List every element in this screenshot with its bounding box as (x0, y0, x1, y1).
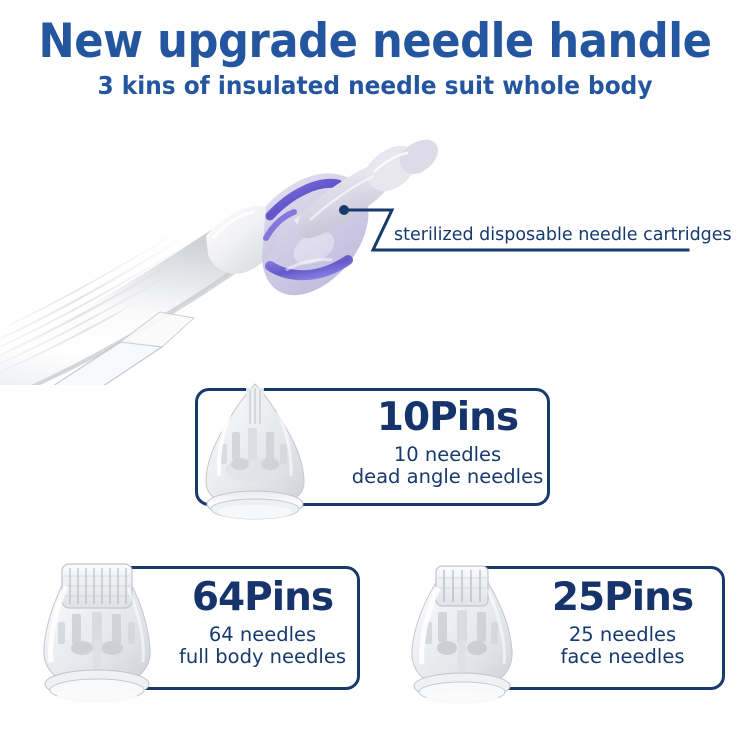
pins-title-25: 25Pins (520, 578, 725, 617)
info-text-64-pins: 64Pins 64 needles full body needles (160, 578, 365, 668)
cartridge-25-pin-image (392, 560, 532, 710)
pins-sub-64-line2: full body needles (160, 646, 365, 668)
pins-sub-10-line2: dead angle needles (340, 466, 555, 488)
pins-sub-64-line1: 64 needles (160, 624, 365, 646)
pins-title-10: 10Pins (340, 398, 555, 437)
product-banner: New upgrade needle handle 3 kins of insu… (0, 0, 750, 750)
callout-label: sterilized disposable needle cartridges (394, 225, 732, 245)
cartridge-10-pin-image (180, 378, 330, 523)
pins-sub-25-line2: face needles (520, 646, 725, 668)
info-text-10-pins: 10Pins 10 needles dead angle needles (340, 398, 555, 488)
pins-title-64: 64Pins (160, 578, 365, 617)
page-title: New upgrade needle handle (30, 14, 720, 69)
cartridge-64-pin-image (22, 556, 172, 711)
info-text-25-pins: 25Pins 25 needles face needles (520, 578, 725, 668)
page-subtitle: 3 kins of insulated needle suit whole bo… (26, 71, 724, 100)
pins-sub-10-line1: 10 needles (340, 444, 555, 466)
pins-sub-25-line1: 25 needles (520, 624, 725, 646)
